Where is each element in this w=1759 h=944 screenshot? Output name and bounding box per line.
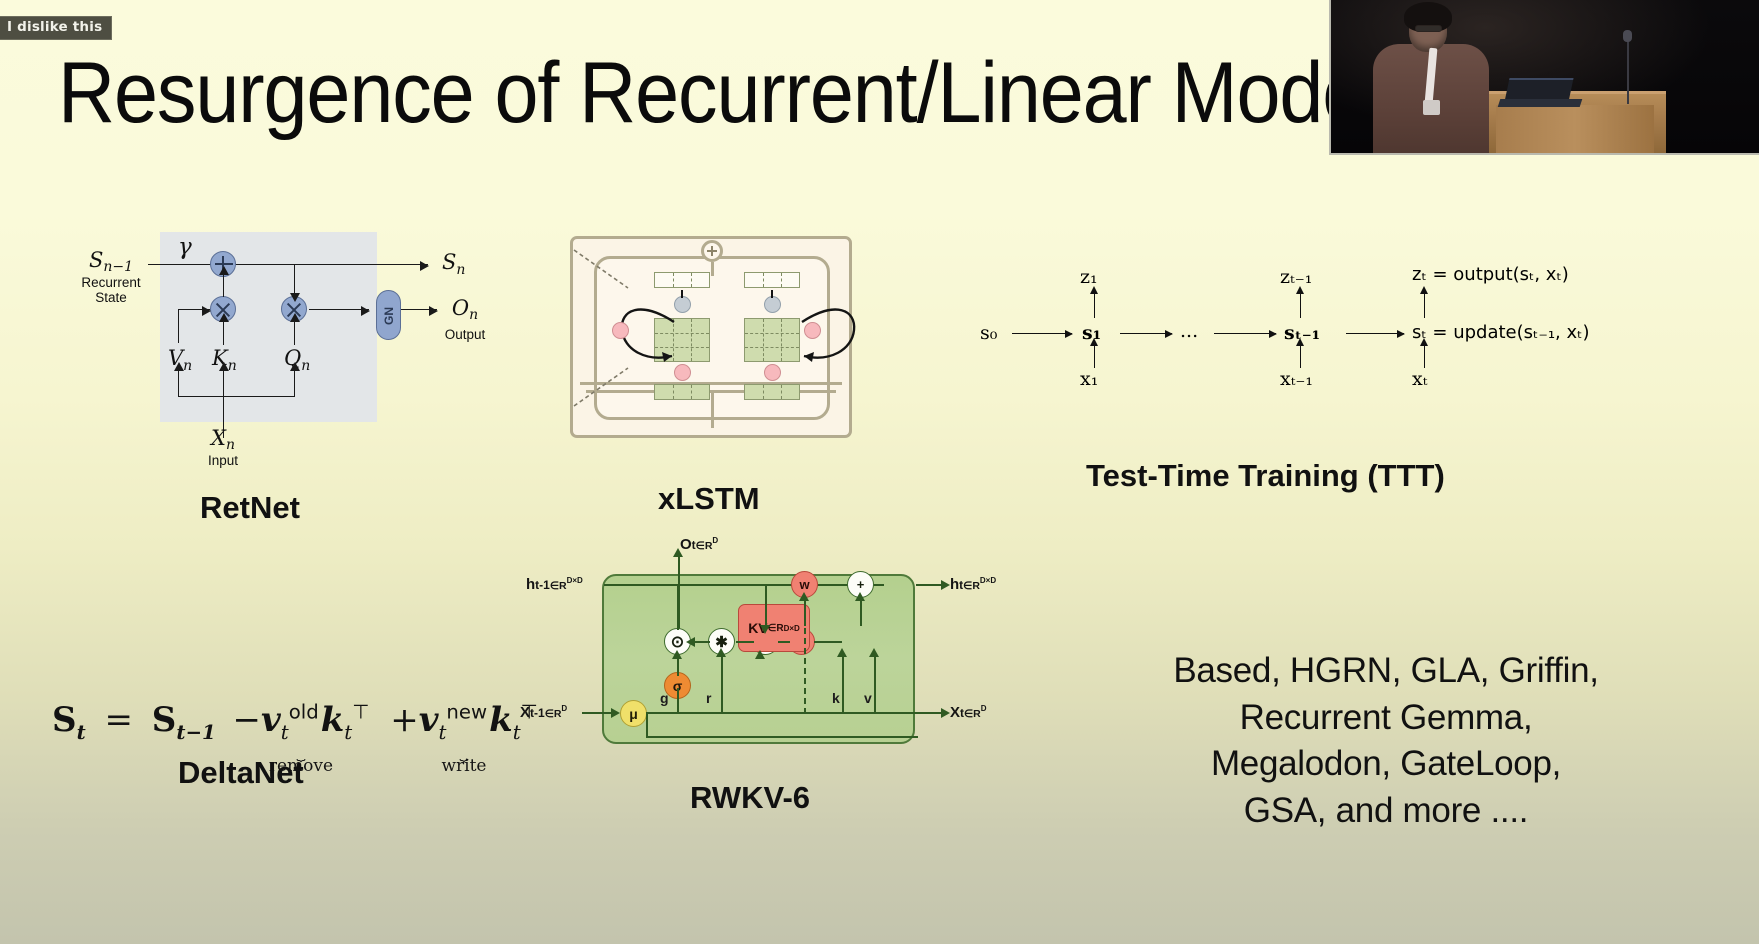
ttt-arrow-stm1-st	[1346, 333, 1404, 334]
xlstm-pink-dot-left	[612, 322, 629, 339]
rwkv-x-out-label: Xt∈RD	[950, 704, 987, 721]
retnet-q-subscript: n	[301, 358, 310, 374]
deltanet-v-old-sub: t	[281, 721, 289, 744]
xlstm-diagram	[566, 232, 856, 442]
rwkv-kv-exp: D×D	[784, 624, 800, 633]
rwkv-r-riser	[721, 656, 723, 712]
xlstm-arrow-2	[771, 290, 773, 298]
retnet-state-in-subscript: n−1	[103, 259, 133, 275]
xlstm-in-cell-2	[744, 384, 800, 400]
rwkv-output-dim: ∈R	[696, 540, 713, 552]
deltanet-lhs-sub: t	[77, 720, 86, 744]
ttt-diagram: s₀ s₁ ... sₜ₋₁ sₜ = update(sₜ₋₁, xₜ) z₁ …	[980, 258, 1540, 408]
rwkv-output-exp: D	[712, 536, 718, 545]
ttt-arrow-x1-s1	[1094, 346, 1095, 368]
rwkv-output-label: Ot∈RD	[680, 536, 718, 553]
xlstm-bottom-stem	[711, 390, 714, 428]
ttt-arrow-xtm1-stm1	[1300, 346, 1301, 368]
rwkv-caption: RWKV-6	[690, 780, 810, 816]
retnet-x-subscript: n	[226, 437, 235, 453]
xlstm-matrix-cell-2	[744, 318, 800, 362]
xlstm-sum-down	[711, 262, 714, 276]
rwkv-w-riser	[804, 600, 806, 626]
rwkv-mu-drop	[646, 712, 648, 736]
rwkv-g-label: g	[660, 690, 669, 706]
presenter-badge	[1423, 100, 1440, 115]
retnet-k-arrow	[223, 321, 224, 345]
rwkv-v-riser	[874, 656, 876, 712]
retnet-state-out-label: Sn	[442, 250, 465, 278]
ttt-x-tminus1: xₜ₋₁	[1280, 368, 1313, 390]
rwkv-diagram: Ot∈RD ht-1∈RD×D ht∈RD×D w + ⊙ ✱ + u KV∈R…	[520, 532, 1040, 782]
deltanet-old-superscript: old	[289, 701, 319, 724]
retnet-state-in-label: Sn−1 Recurrent State	[74, 248, 148, 305]
retnet-state-out-symbol: S	[442, 250, 456, 274]
xlstm-out-cell-1	[654, 272, 710, 288]
retnet-x-symbol: X	[211, 426, 226, 450]
retnet-v-to-mult-line	[178, 309, 210, 310]
rwkv-v-label: v	[864, 690, 872, 706]
xlstm-dashed-connector-lower	[570, 364, 634, 410]
xlstm-arrow-1	[681, 290, 683, 298]
retnet-state-in-desc1: Recurrent	[74, 275, 148, 290]
podium-front-panel	[1496, 105, 1654, 153]
rwkv-h-out-label: ht∈RD×D	[950, 576, 996, 593]
ttt-caption: Test-Time Training (TTT)	[1086, 458, 1445, 494]
rwkv-x-bus	[646, 712, 918, 714]
xlstm-pink-dot-right	[804, 322, 821, 339]
retnet-output-symbol: O	[452, 296, 469, 320]
rwkv-x-in-symbol: X	[520, 704, 530, 721]
rwkv-x-out-arrow	[916, 712, 942, 714]
rwkv-h-out-arrow	[916, 584, 942, 586]
dislike-tooltip[interactable]: I dislike this	[0, 16, 112, 40]
xlstm-caption: xLSTM	[658, 481, 760, 517]
rwkv-x-in-sub: t-1	[530, 706, 545, 720]
retnet-v-riser	[178, 309, 179, 343]
retnet-diagram: γ Sn−1 Recurrent State	[60, 228, 480, 468]
retnet-caption: RetNet	[200, 490, 300, 526]
xlstm-grey-dot-2	[764, 296, 781, 313]
models-line-4: GSA, and more ....	[1096, 788, 1676, 835]
retnet-panel-background	[160, 232, 377, 422]
xlstm-dashed-connector	[570, 246, 634, 292]
rwkv-k-label: k	[832, 690, 840, 706]
related-models-list: Based, HGRN, GLA, Griffin, Recurrent Gem…	[1096, 648, 1676, 834]
deltanet-write-term: +vtnewkt⊤ ⏟ write	[390, 700, 538, 744]
ttt-arrow-st-zt	[1424, 294, 1425, 318]
ttt-arrow-dots-stm1	[1214, 333, 1276, 334]
microphone-head	[1623, 30, 1632, 42]
deltanet-equation: St = St−1 −vtoldkt⊤ ⏟ remove +vtnewkt⊤ ⏟…	[52, 700, 538, 744]
retnet-groupnorm-block: GN	[376, 290, 401, 340]
models-line-2: Recurrent Gemma,	[1096, 695, 1676, 742]
rwkv-x-in-dim: ∈R	[545, 708, 562, 720]
deltanet-write-label: write	[390, 756, 538, 776]
deltanet-transpose-old: ⊤	[352, 701, 369, 724]
models-line-3: Megalodon, GateLoop,	[1096, 741, 1676, 788]
rwkv-x-return-bus	[646, 736, 918, 738]
xlstm-pink-dot-2	[764, 364, 781, 381]
rwkv-h-in-symbol: h	[526, 576, 535, 593]
rwkv-h-out-symbol: h	[950, 576, 959, 593]
deltanet-k-old-symbol: k	[321, 700, 345, 740]
rwkv-x-out-symbol: X	[950, 704, 960, 721]
microphone-stand	[1627, 36, 1629, 104]
retnet-state-in-desc2: State	[74, 290, 148, 305]
ttt-arrow-s0-s1	[1012, 333, 1072, 334]
deltanet-equals: =	[104, 700, 133, 740]
rwkv-out-riser	[677, 584, 679, 630]
deltanet-new-superscript: new	[446, 701, 487, 724]
retnet-arrow-mult-to-add	[223, 274, 224, 297]
slide-title: Resurgence of Recurrent/Linear Models	[58, 48, 1420, 139]
ttt-z-tminus1: zₜ₋₁	[1280, 266, 1312, 288]
xlstm-sum-node	[701, 240, 723, 262]
ttt-arrow-s1-z1	[1094, 294, 1095, 318]
xlstm-in-cell-1	[654, 384, 710, 400]
retnet-input-bus	[178, 396, 295, 397]
deltanet-remove-term: −vtoldkt⊤ ⏟ remove	[233, 700, 370, 744]
deltanet-lhs-symbol: S	[52, 700, 77, 740]
rwkv-h-in-exp: D×D	[567, 576, 583, 585]
laptop-base	[1498, 99, 1583, 107]
rwkv-h-out-exp: D×D	[980, 576, 996, 585]
rwkv-h-in-sub: t-1	[535, 578, 550, 592]
retnet-mult-to-gn	[309, 309, 369, 310]
retnet-output-subscript: n	[469, 307, 478, 323]
rwkv-h-to-add	[765, 584, 767, 626]
rwkv-x-in-arrow	[582, 712, 612, 714]
rwkv-x-out-dim: ∈R	[964, 708, 981, 720]
deltanet-caption: DeltaNet	[178, 755, 304, 791]
rwkv-add-to-star	[736, 641, 754, 643]
rwkv-h-out-dim: ∈R	[963, 580, 980, 592]
presentation-slide: I dislike this Resurgence of Recurrent/L…	[0, 0, 1759, 944]
deltanet-plus-sign: +	[390, 700, 419, 740]
deltanet-lhs: St	[52, 700, 86, 740]
retnet-v-subscript: n	[183, 358, 192, 374]
retnet-input-branch-v	[178, 370, 179, 397]
rwkv-h-bus	[604, 584, 884, 586]
deltanet-k-new-symbol: k	[489, 700, 513, 740]
rwkv-h-in-dim: ∈R	[550, 580, 567, 592]
rwkv-h-in-label: ht-1∈RD×D	[526, 576, 583, 593]
deltanet-prev: St−1	[152, 700, 216, 740]
retnet-state-in-symbol: S	[89, 248, 103, 272]
rwkv-panel-background	[602, 574, 915, 744]
rwkv-kv-to-u	[814, 641, 842, 643]
ttt-ellipsis: ...	[1180, 320, 1198, 342]
rwkv-sigma-to-hadamard	[677, 658, 679, 676]
retnet-input-label: Xn Input	[190, 426, 256, 468]
deltanet-k-old-sub: t	[344, 721, 352, 744]
retnet-arrow-state-to-qmult	[294, 264, 295, 294]
ttt-update-equation: sₜ = update(sₜ₋₁, xₜ)	[1412, 322, 1590, 343]
deltanet-v-new-sub: t	[438, 721, 446, 744]
rwkv-x-in-label: Xt-1∈RD	[520, 704, 567, 721]
rwkv-kv-to-add	[860, 600, 862, 626]
rwkv-x-out-exp: D	[981, 704, 987, 713]
deltanet-prev-symbol: S	[152, 700, 177, 740]
retnet-input-branch-q	[294, 370, 295, 397]
ttt-x1: x₁	[1080, 368, 1098, 390]
ttt-output-equation: zₜ = output(sₜ, xₜ)	[1412, 264, 1569, 285]
retnet-q-arrow	[294, 321, 295, 345]
rwkv-kv-block: KV∈RD×D	[738, 604, 810, 652]
retnet-gamma-label: γ	[178, 234, 192, 260]
xlstm-out-cell-2	[744, 272, 800, 288]
deltanet-v-new-symbol: v	[419, 700, 439, 740]
rwkv-dashed-gate-line	[804, 628, 806, 714]
ttt-arrow-s1-dots	[1120, 333, 1172, 334]
ttt-z1: z₁	[1080, 266, 1098, 288]
rwkv-r-label: r	[706, 690, 711, 706]
retnet-gn-label: GN	[364, 291, 414, 341]
ttt-s0: s₀	[980, 322, 997, 344]
deltanet-v-old-symbol: v	[261, 700, 281, 740]
presenter-video-overlay[interactable]	[1329, 0, 1759, 155]
rwkv-g-riser	[677, 688, 679, 712]
rwkv-mu-node: μ	[620, 700, 647, 727]
retnet-output-desc: Output	[432, 327, 498, 342]
retnet-state-out-subscript: n	[456, 262, 465, 278]
retnet-state-line	[148, 264, 428, 265]
deltanet-minus-sign: −	[233, 700, 262, 740]
deltanet-prev-sub: t−1	[176, 720, 215, 744]
ttt-arrow-stm1-ztm1	[1300, 294, 1301, 318]
retnet-output-label: On Output	[432, 296, 498, 342]
retnet-input-desc: Input	[190, 453, 256, 468]
rwkv-u-to-add	[778, 641, 790, 643]
models-line-1: Based, HGRN, GLA, Griffin,	[1096, 648, 1676, 695]
rwkv-star-to-hadamard	[694, 641, 710, 643]
ttt-arrow-xt-st	[1424, 346, 1425, 368]
ttt-x-t: xₜ	[1412, 368, 1427, 390]
rwkv-x-in-exp: D	[561, 704, 567, 713]
rwkv-k-riser	[842, 656, 844, 712]
presenter-glasses	[1415, 25, 1442, 32]
